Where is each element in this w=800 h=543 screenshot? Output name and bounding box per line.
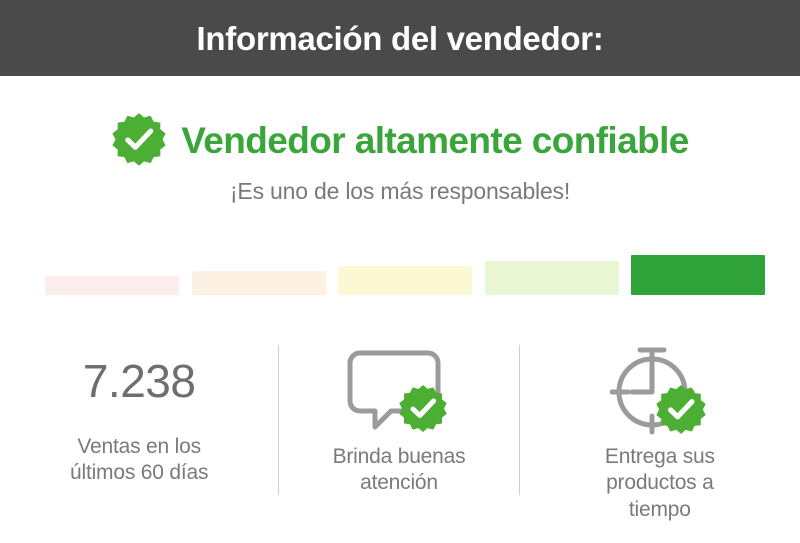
reputation-level-light-green xyxy=(485,261,619,295)
stat-delivery-label: Entrega sus productos a tiempo xyxy=(605,444,715,523)
stat-attention-icon-wrap xyxy=(347,344,451,436)
reputation-level-orange xyxy=(192,271,326,295)
verified-badge-icon xyxy=(111,112,167,168)
header-bar: Información del vendedor: xyxy=(0,0,800,76)
stats-row: 7.238 Ventas en los últimos 60 días Brin… xyxy=(0,340,800,540)
stat-sales-label: Ventas en los últimos 60 días xyxy=(70,434,208,487)
stat-sales: 7.238 Ventas en los últimos 60 días xyxy=(0,340,278,487)
page-title: Información del vendedor: xyxy=(197,22,604,55)
trust-title: Vendedor altamente confiable xyxy=(181,122,689,159)
reputation-level-red xyxy=(45,276,179,295)
trust-headline-block: Vendedor altamente confiable ¡Es uno de … xyxy=(0,112,800,203)
speech-bubble-check-icon xyxy=(347,345,451,435)
trust-title-row: Vendedor altamente confiable xyxy=(0,112,800,168)
stat-attention-label: Brinda buenas atención xyxy=(333,444,466,497)
reputation-level-yellow xyxy=(338,266,472,295)
stat-attention: Brinda buenas atención xyxy=(279,340,518,497)
stat-sales-value: 7.238 xyxy=(83,358,196,404)
trust-subtitle: ¡Es uno de los más responsables! xyxy=(0,180,800,203)
stat-delivery: Entrega sus productos a tiempo xyxy=(520,340,800,523)
stat-delivery-icon-wrap xyxy=(610,344,710,436)
clock-check-icon xyxy=(610,342,710,438)
reputation-meter xyxy=(45,245,765,295)
reputation-level-green xyxy=(631,255,765,295)
